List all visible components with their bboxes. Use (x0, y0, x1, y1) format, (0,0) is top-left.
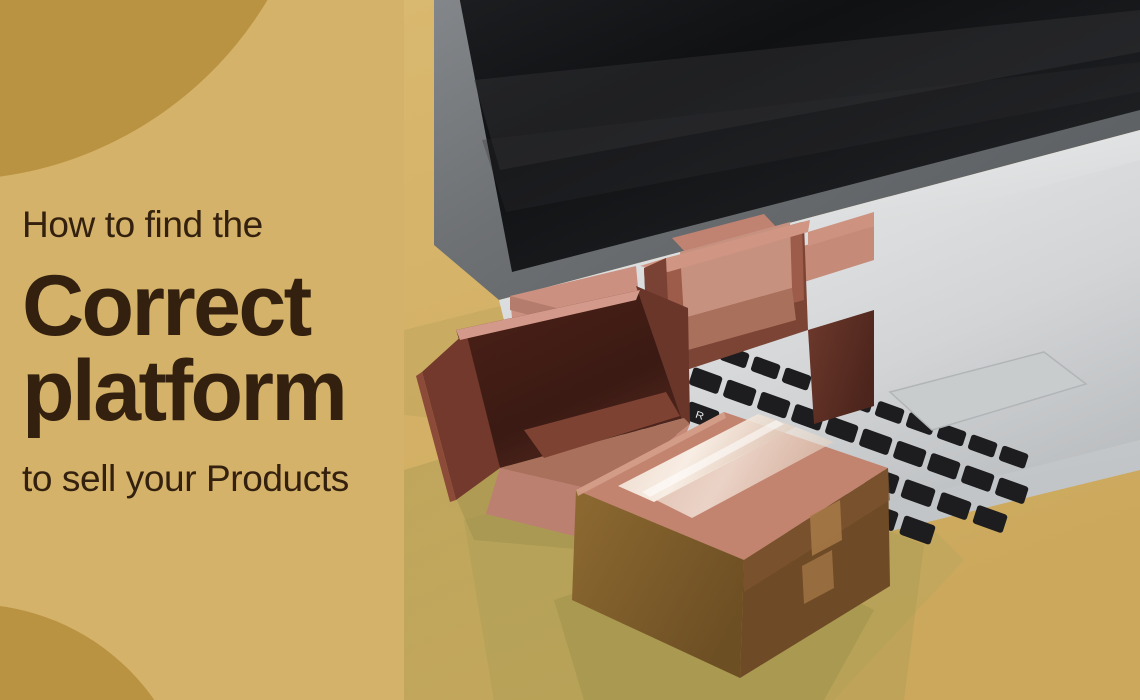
hero-banner: Q W E R T Y A S D F Z X C (0, 0, 1140, 700)
circle-top-left-decoration (0, 0, 320, 180)
headline-kicker: How to find the (22, 206, 482, 243)
headline-block: How to find the Correct platform to sell… (22, 206, 482, 497)
headline-tagline: to sell your Products (22, 460, 482, 497)
hero-photo-laptop-boxes: Q W E R T Y A S D F Z X C (404, 0, 1140, 700)
circle-bottom-left-decoration (0, 604, 195, 700)
headline-emphasis-line-1: Correct (22, 265, 482, 348)
headline-emphasis-line-2: platform (22, 350, 482, 433)
